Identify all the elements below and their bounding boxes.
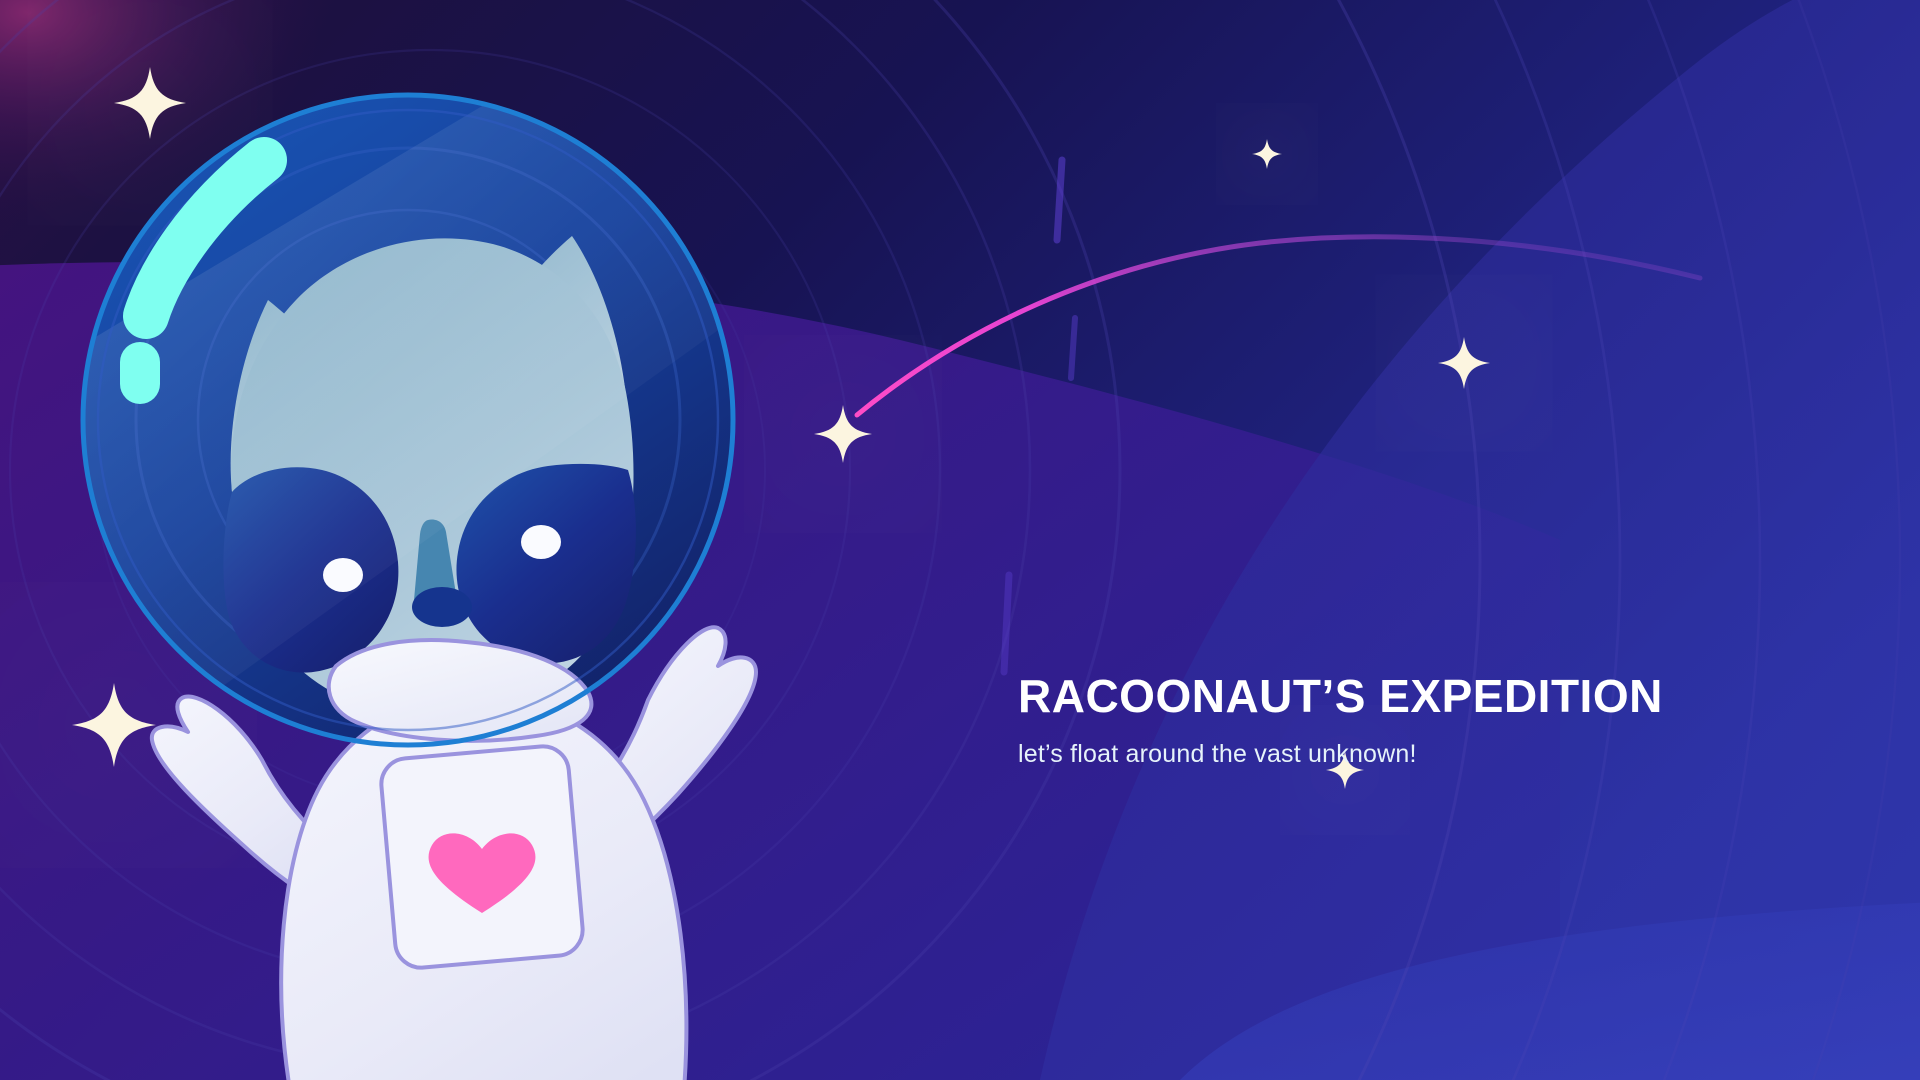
helmet-cyan-dash [120,342,160,404]
headline-block: RACOONAUT’S EXPEDITION let’s float aroun… [1018,672,1778,769]
eye-right [521,525,561,559]
hero-illustration-stage: RACOONAUT’S EXPEDITION let’s float aroun… [0,0,1920,1080]
page-title: RACOONAUT’S EXPEDITION [1018,672,1778,720]
racoonaut-character [0,0,1920,1080]
page-subtitle: let’s float around the vast unknown! [1018,740,1778,769]
nose [412,587,472,627]
